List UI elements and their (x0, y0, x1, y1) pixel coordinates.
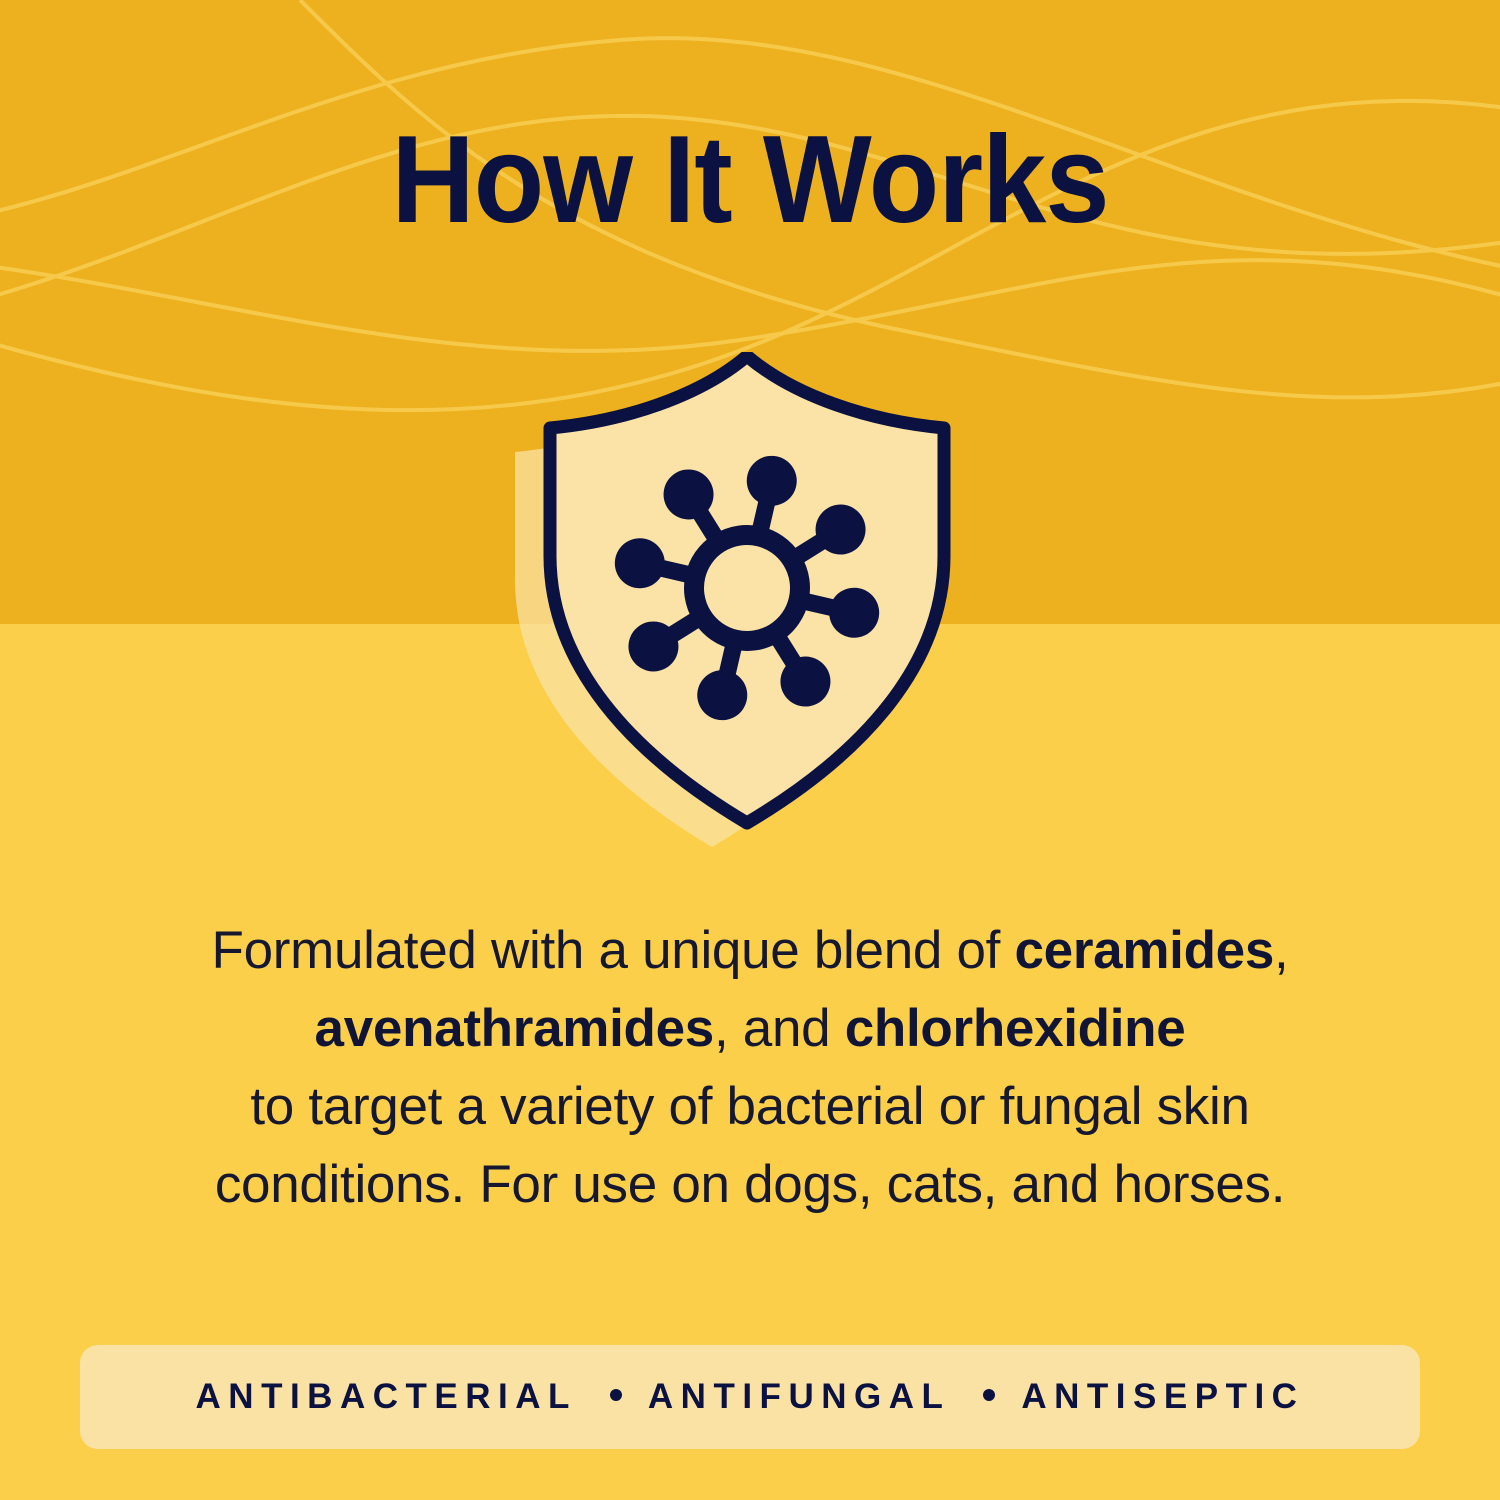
body-text: Formulated with a unique blend of (212, 921, 1015, 980)
bullet-dot-icon (983, 1389, 995, 1401)
body-emphasis: chlorhexidine (845, 999, 1186, 1058)
body-line-2: avenathramides, and chlorhexidine (150, 990, 1350, 1068)
claim-badge-antibacterial: ANTIBACTERIAL (196, 1377, 577, 1417)
shield-virus-icon (480, 352, 1020, 852)
body-text: , (1274, 921, 1288, 980)
body-text: to target a variety of bacterial or fung… (250, 1077, 1249, 1136)
body-text: , and (714, 999, 845, 1058)
hero-icon-container (480, 352, 1020, 852)
claim-badge-antifungal: ANTIFUNGAL (648, 1377, 950, 1417)
bullet-dot-icon (610, 1389, 622, 1401)
claims-list: ANTIBACTERIALANTIFUNGALANTISEPTIC (196, 1377, 1305, 1417)
claim-badge-antiseptic: ANTISEPTIC (1021, 1377, 1304, 1417)
body-line-4: conditions. For use on dogs, cats, and h… (150, 1146, 1350, 1224)
body-line-3: to target a variety of bacterial or fung… (150, 1068, 1350, 1146)
body-emphasis: ceramides (1015, 921, 1275, 980)
claims-badge-bar: ANTIBACTERIALANTIFUNGALANTISEPTIC (80, 1345, 1420, 1449)
page-title: How It Works (53, 118, 1448, 242)
body-emphasis: avenathramides (315, 999, 714, 1058)
body-text: conditions. For use on dogs, cats, and h… (215, 1155, 1285, 1214)
body-paragraph: Formulated with a unique blend of cerami… (150, 912, 1350, 1224)
how-it-works-infographic: How It Works (0, 0, 1500, 1500)
body-line-1: Formulated with a unique blend of cerami… (150, 912, 1350, 990)
